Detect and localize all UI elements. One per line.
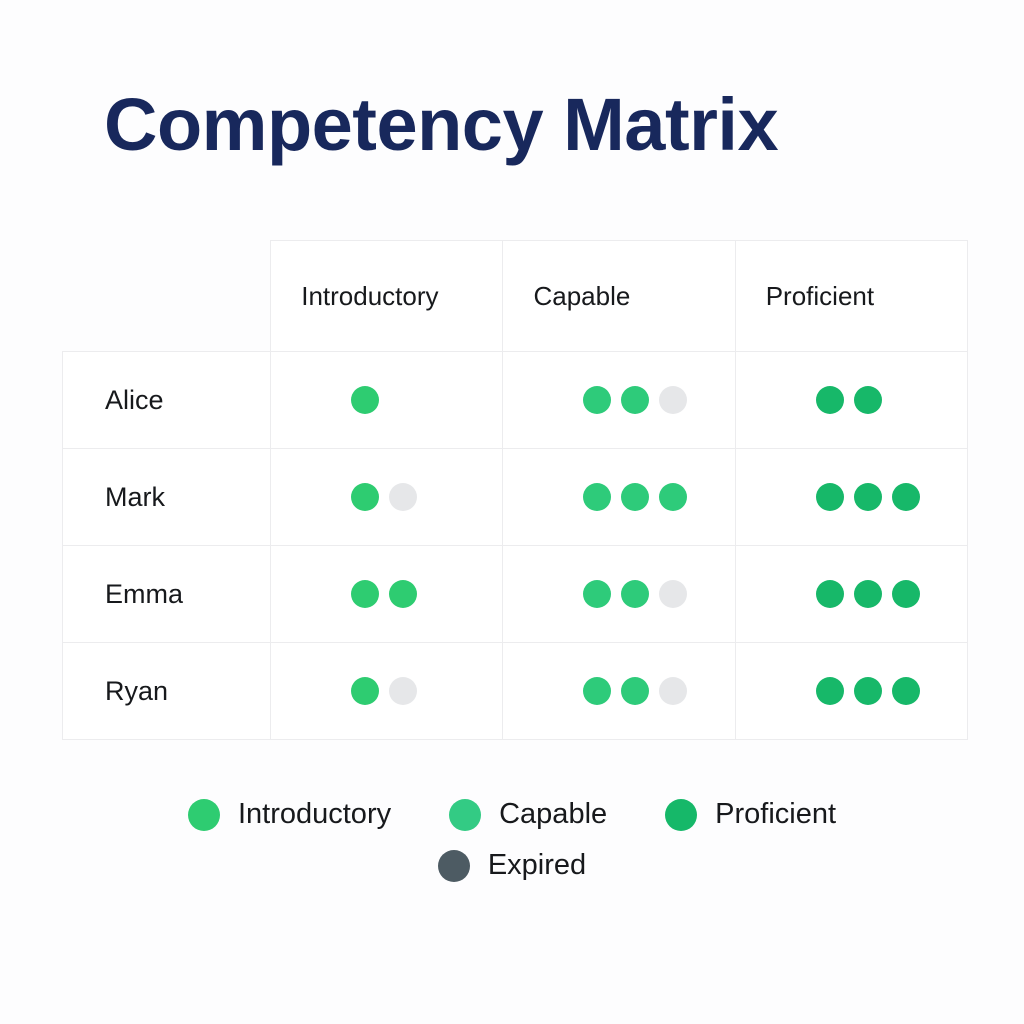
status-dot-proficient-icon bbox=[816, 386, 844, 414]
status-dot-proficient-icon bbox=[892, 580, 920, 608]
column-header-proficient[interactable]: Proficient bbox=[735, 241, 967, 352]
competency-matrix-page: Competency Matrix Introductory Capable P… bbox=[0, 0, 1024, 1024]
status-dot-introductory-icon bbox=[389, 580, 417, 608]
cell-emma-capable[interactable] bbox=[503, 546, 735, 643]
row-label-alice: Alice bbox=[63, 352, 271, 449]
dot-group bbox=[503, 483, 734, 511]
status-dot-proficient-icon bbox=[854, 386, 882, 414]
cell-ryan-proficient[interactable] bbox=[735, 643, 967, 740]
cell-mark-proficient[interactable] bbox=[735, 449, 967, 546]
dot-group bbox=[271, 483, 502, 511]
dot-group bbox=[736, 386, 967, 414]
status-dot-proficient-icon bbox=[816, 677, 844, 705]
status-dot-introductory-icon bbox=[351, 386, 379, 414]
legend-item-introductory[interactable]: Introductory bbox=[188, 798, 391, 831]
status-dot-empty-icon bbox=[389, 677, 417, 705]
legend-item-capable[interactable]: Capable bbox=[449, 798, 607, 831]
status-dot-capable-icon bbox=[583, 483, 611, 511]
legend-label-proficient: Proficient bbox=[715, 798, 836, 831]
legend: IntroductoryCapableProficientExpired bbox=[0, 798, 1024, 900]
status-dot-capable-icon bbox=[659, 483, 687, 511]
table-body: AliceMarkEmmaRyan bbox=[63, 352, 968, 740]
cell-mark-capable[interactable] bbox=[503, 449, 735, 546]
cell-mark-introductory[interactable] bbox=[271, 449, 503, 546]
competency-matrix-table: Introductory Capable Proficient AliceMar… bbox=[62, 240, 968, 740]
status-dot-capable-icon bbox=[583, 677, 611, 705]
table-row: Mark bbox=[63, 449, 968, 546]
cell-ryan-introductory[interactable] bbox=[271, 643, 503, 740]
dot-group bbox=[271, 580, 502, 608]
legend-dot-capable-icon bbox=[449, 799, 481, 831]
status-dot-capable-icon bbox=[621, 386, 649, 414]
cell-emma-proficient[interactable] bbox=[735, 546, 967, 643]
dot-group bbox=[503, 580, 734, 608]
dot-group bbox=[271, 677, 502, 705]
dot-group bbox=[736, 580, 967, 608]
status-dot-introductory-icon bbox=[351, 580, 379, 608]
dot-group bbox=[503, 677, 734, 705]
cell-alice-introductory[interactable] bbox=[271, 352, 503, 449]
status-dot-empty-icon bbox=[659, 677, 687, 705]
status-dot-empty-icon bbox=[659, 386, 687, 414]
row-label-mark: Mark bbox=[63, 449, 271, 546]
cell-alice-capable[interactable] bbox=[503, 352, 735, 449]
legend-dot-introductory-icon bbox=[188, 799, 220, 831]
status-dot-proficient-icon bbox=[816, 580, 844, 608]
dot-group bbox=[736, 677, 967, 705]
status-dot-introductory-icon bbox=[351, 677, 379, 705]
column-header-introductory[interactable]: Introductory bbox=[271, 241, 503, 352]
column-header-capable[interactable]: Capable bbox=[503, 241, 735, 352]
cell-ryan-capable[interactable] bbox=[503, 643, 735, 740]
legend-item-proficient[interactable]: Proficient bbox=[665, 798, 836, 831]
dot-group bbox=[503, 386, 734, 414]
table-row: Alice bbox=[63, 352, 968, 449]
legend-dot-expired-icon bbox=[438, 850, 470, 882]
legend-label-expired: Expired bbox=[488, 849, 586, 882]
status-dot-introductory-icon bbox=[351, 483, 379, 511]
status-dot-empty-icon bbox=[389, 483, 417, 511]
legend-item-expired[interactable]: Expired bbox=[438, 849, 586, 882]
header-row: Introductory Capable Proficient bbox=[63, 241, 968, 352]
legend-row-2: Expired bbox=[0, 849, 1024, 882]
status-dot-proficient-icon bbox=[854, 483, 882, 511]
table-row: Emma bbox=[63, 546, 968, 643]
status-dot-capable-icon bbox=[621, 677, 649, 705]
status-dot-capable-icon bbox=[621, 483, 649, 511]
table-header: Introductory Capable Proficient bbox=[63, 241, 968, 352]
legend-label-capable: Capable bbox=[499, 798, 607, 831]
status-dot-proficient-icon bbox=[892, 483, 920, 511]
table-row: Ryan bbox=[63, 643, 968, 740]
legend-dot-proficient-icon bbox=[665, 799, 697, 831]
table-corner-cell bbox=[63, 241, 271, 352]
status-dot-proficient-icon bbox=[854, 677, 882, 705]
cell-emma-introductory[interactable] bbox=[271, 546, 503, 643]
status-dot-capable-icon bbox=[621, 580, 649, 608]
row-label-emma: Emma bbox=[63, 546, 271, 643]
legend-label-introductory: Introductory bbox=[238, 798, 391, 831]
cell-alice-proficient[interactable] bbox=[735, 352, 967, 449]
status-dot-capable-icon bbox=[583, 386, 611, 414]
row-label-ryan: Ryan bbox=[63, 643, 271, 740]
status-dot-proficient-icon bbox=[816, 483, 844, 511]
status-dot-capable-icon bbox=[583, 580, 611, 608]
status-dot-proficient-icon bbox=[854, 580, 882, 608]
legend-row-1: IntroductoryCapableProficient bbox=[0, 798, 1024, 831]
page-title: Competency Matrix bbox=[104, 88, 778, 162]
dot-group bbox=[736, 483, 967, 511]
dot-group bbox=[271, 386, 502, 414]
status-dot-proficient-icon bbox=[892, 677, 920, 705]
status-dot-empty-icon bbox=[659, 580, 687, 608]
